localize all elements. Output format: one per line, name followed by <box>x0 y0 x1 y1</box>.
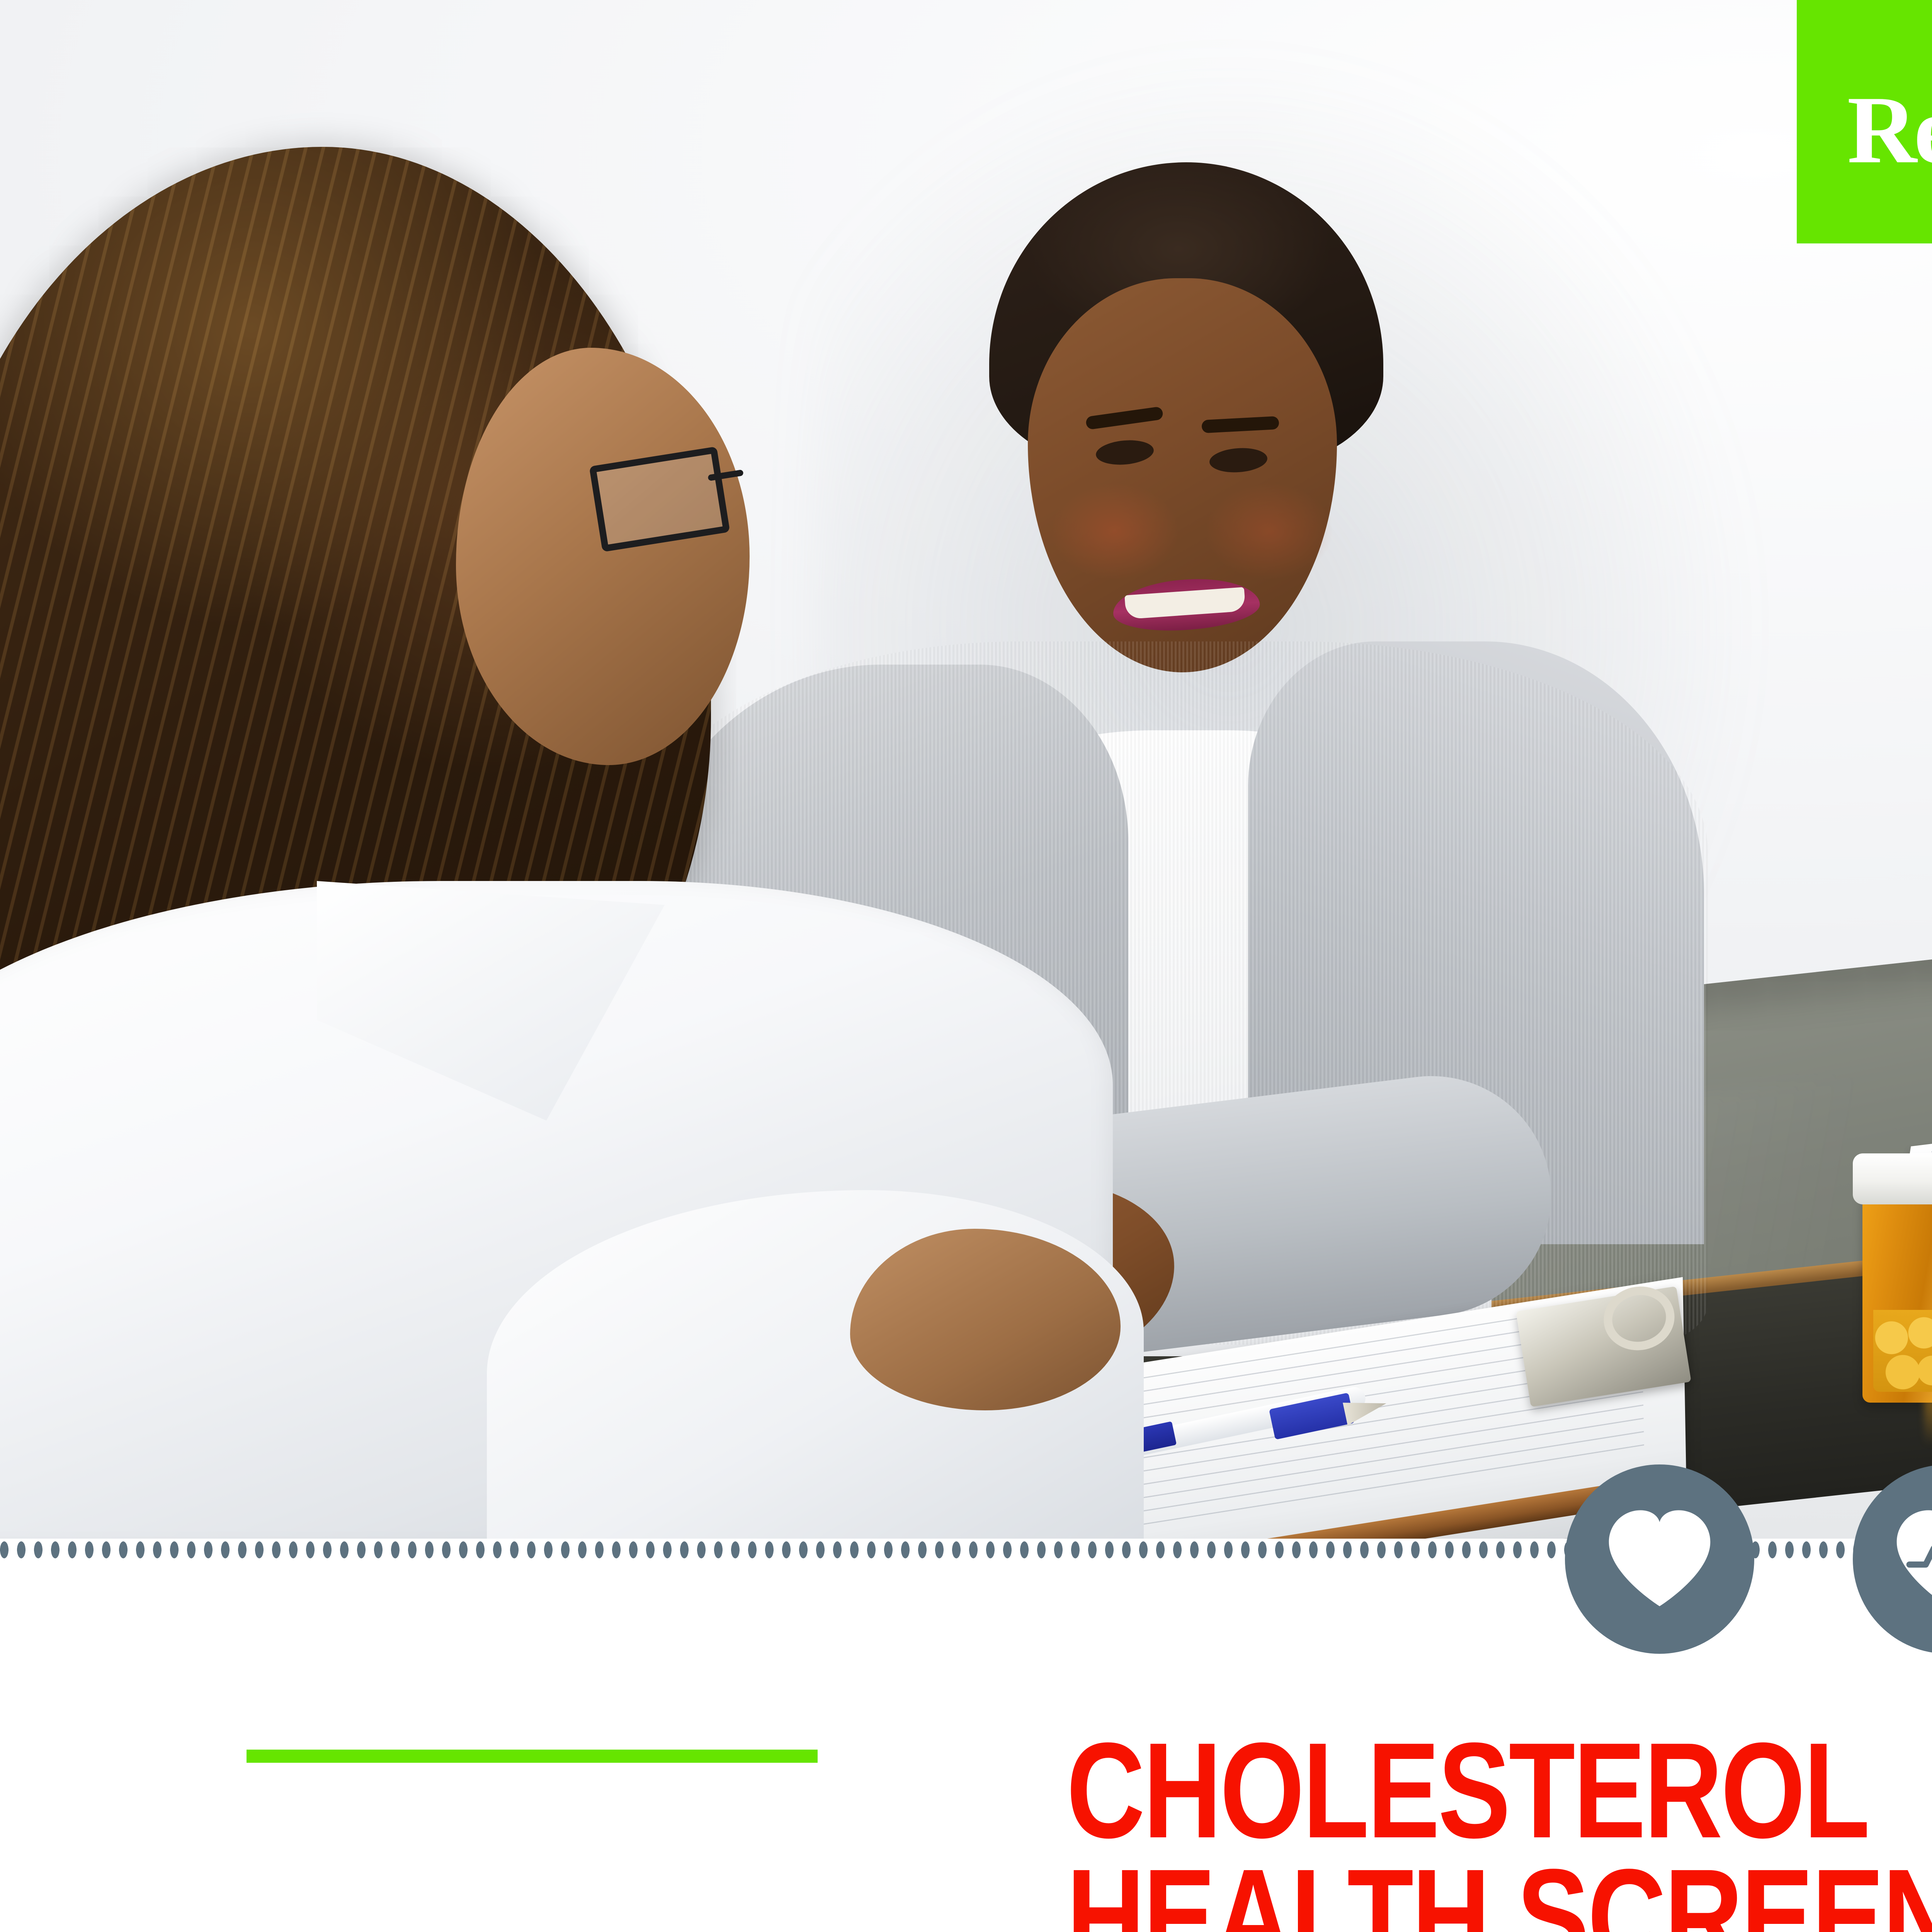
page-title: CHOLESTEROL HEALTH SCREENING EVENT <box>1066 1727 1932 1932</box>
heart-icon <box>1602 1501 1718 1617</box>
patient-cheek-right <box>1206 483 1333 580</box>
heart-pulse-icon <box>1889 1501 1932 1617</box>
pill-bottle-cap <box>1853 1153 1932 1204</box>
pill-bottle-pills <box>1873 1310 1932 1392</box>
heart-icon-badge <box>1565 1464 1754 1654</box>
pill-bottle-reflection <box>1924 1399 1932 1445</box>
brand-logo-text: Remedy'sRx <box>1847 82 1932 179</box>
heart-pulse-icon-badge <box>1853 1464 1932 1654</box>
brand-logo-block: Remedy'sRx ® <box>1797 0 1932 243</box>
patient-cheek-left <box>1051 483 1179 580</box>
poster-root: Remedy'sRx ® <box>0 0 1932 1932</box>
hero-photo: Remedy'sRx ® <box>0 0 1932 1553</box>
accent-rule-top <box>247 1750 818 1763</box>
icon-row <box>1565 1464 1932 1658</box>
